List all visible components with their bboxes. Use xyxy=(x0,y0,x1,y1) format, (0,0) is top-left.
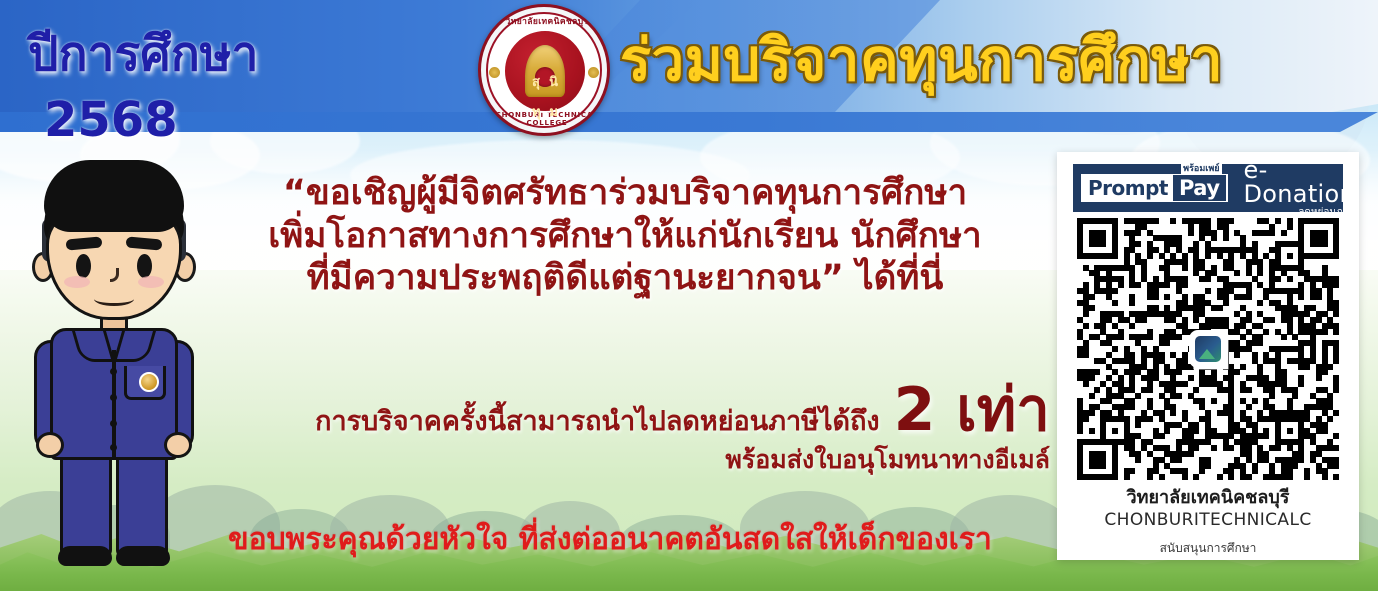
promptpay-header-bar: Prompt Pay พร้อมเพย์ e-Donation ลดหย่อนภ… xyxy=(1073,164,1343,212)
edonation-logo: e-Donation ลดหย่อนภาษี xyxy=(1244,158,1355,218)
promptpay-thai-label: พร้อมเพย์ xyxy=(1181,161,1221,175)
academic-year-label: ปีการศึกษา xyxy=(28,16,258,92)
academic-year-value: 2568 xyxy=(44,92,178,148)
mascot-hand-left xyxy=(36,432,64,458)
qr-center-logo-icon xyxy=(1191,332,1225,366)
edonation-sub-label: ลดหย่อนภาษี xyxy=(1298,208,1355,218)
qr-code[interactable] xyxy=(1077,218,1339,480)
emblem-inner-disc: สุ นิ ทุ ม xyxy=(503,29,587,113)
account-name-thai: วิทยาลัยเทคนิคชลบุรี xyxy=(1057,486,1359,509)
mascot-hand-right xyxy=(164,432,192,458)
header-ribbon-strip xyxy=(0,112,1378,132)
invitation-quote: “ขอเชิญผู้มีจิตศรัทธาร่วมบริจาคทุนการศึก… xyxy=(200,172,1050,300)
mascot-shoe-left xyxy=(58,546,112,566)
header-title: ร่วมบริจาคทุนการศึกษา xyxy=(620,16,1360,102)
mascot-leg-left xyxy=(60,454,112,558)
mascot-leg-right xyxy=(116,454,168,558)
emblem-gold-ornament-icon xyxy=(525,45,565,97)
mascot-hair-front xyxy=(44,160,184,232)
emblem-letter: ม xyxy=(549,101,558,122)
mascot-shoe-right xyxy=(116,546,170,566)
mascot-shirt-button xyxy=(110,420,117,427)
quote-line-3: ที่มีความประพฤติดีแต่ฐานะยากจน” ได้ที่นี… xyxy=(200,257,1050,300)
mascot-cheek-right xyxy=(138,276,164,288)
emblem-ornament-dot-right xyxy=(588,67,599,78)
emblem-letter: นิ xyxy=(549,71,558,92)
promptpay-prompt-label: Prompt xyxy=(1085,176,1171,200)
thank-you-message: ขอบพระคุณด้วยหัวใจ ที่ส่งต่ออนาคตอันสดใส… xyxy=(150,516,1070,563)
mascot-shirt-button xyxy=(110,444,117,451)
emblem-ornament-dot-left xyxy=(489,67,500,78)
college-logo: วิทยาลัยเทคนิคชลบุรี CHONBURI TECHNICAL … xyxy=(478,4,610,136)
promptpay-logo: Prompt Pay พร้อมเพย์ xyxy=(1079,172,1230,204)
emblem-letter: ทุ xyxy=(532,101,541,122)
tax-deduction-text: การบริจาคครั้งนี้สามารถนำไปลดหย่อนภาษีได… xyxy=(315,399,879,442)
edonation-label: e-Donation xyxy=(1244,158,1355,206)
mascot-pocket-badge-icon xyxy=(139,372,159,392)
mascot-shirt-placket xyxy=(112,350,116,458)
mascot-eye-left xyxy=(76,254,91,278)
quote-line-1: “ขอเชิญผู้มีจิตศรัทธาร่วมบริจาคทุนการศึก… xyxy=(200,172,1050,215)
mascot-eye-right xyxy=(137,254,152,278)
mascot-shirt-pocket xyxy=(124,366,166,400)
account-purpose-note: สนับสนุนการศึกษา xyxy=(1057,539,1359,558)
account-name-english: CHONBURITECHNICALC xyxy=(1057,509,1359,533)
email-receipt-note: พร้อมส่งใบอนุโมทนาทางอีเมล์ xyxy=(200,440,1050,480)
mascot-shirt-button xyxy=(110,368,117,375)
mascot-cheek-left xyxy=(64,276,90,288)
qr-account-caption: วิทยาลัยเทคนิคชลบุรี CHONBURITECHNICALC … xyxy=(1057,486,1359,558)
emblem-english-name: CHONBURI TECHNICAL COLLEGE xyxy=(481,111,610,127)
emblem-thai-name: วิทยาลัยเทคนิคชลบุรี xyxy=(481,14,610,28)
promptpay-donation-card[interactable]: Prompt Pay พร้อมเพย์ e-Donation ลดหย่อนภ… xyxy=(1057,152,1359,560)
mascot-mouth xyxy=(94,292,134,306)
promptpay-pay-label: Pay xyxy=(1173,175,1226,201)
donation-banner: ร่วมบริจาคทุนการศึกษา วิทยาลัยเทคนิคชลบุ… xyxy=(0,0,1378,591)
qr-center-logo-inner xyxy=(1195,336,1221,362)
mascot-shirt-button xyxy=(110,394,117,401)
quote-line-2: เพิ่มโอกาสทางการศึกษาให้แก่นักเรียน นักศ… xyxy=(200,215,1050,258)
emblem-letter: สุ xyxy=(532,71,540,92)
